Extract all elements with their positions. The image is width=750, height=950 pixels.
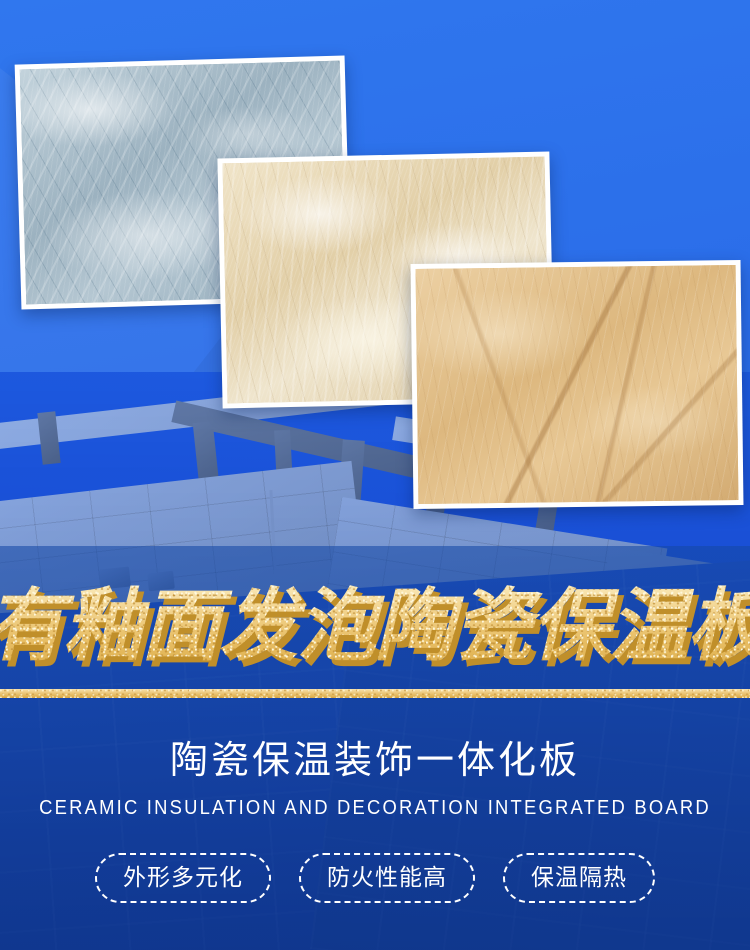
- feature-badge-shape[interactable]: 外形多元化: [95, 853, 271, 903]
- subtitle-block: 陶瓷保温装饰一体化板 CERAMIC INSULATION AND DECORA…: [0, 735, 750, 820]
- product-banner: 有釉面发泡陶瓷保温板 有釉面发泡陶瓷保温板 陶瓷保温装饰一体化板 CERAMIC…: [0, 0, 750, 950]
- headline-row: 有釉面发泡陶瓷保温板 有釉面发泡陶瓷保温板: [0, 578, 750, 674]
- gold-divider: [0, 689, 750, 698]
- feature-badge-row: 外形多元化 防火性能高 保温隔热: [0, 853, 750, 903]
- subtitle-chinese: 陶瓷保温装饰一体化板: [0, 735, 750, 785]
- headline-title: 有釉面发泡陶瓷保温板: [0, 578, 750, 674]
- feature-badge-fireproof[interactable]: 防火性能高: [299, 853, 475, 903]
- subtitle-english: CERAMIC INSULATION AND DECORATION INTEGR…: [30, 796, 720, 820]
- tan-veined-marble-tile: [416, 265, 739, 504]
- sample-tile-3: [411, 260, 744, 509]
- headline-stack: 有釉面发泡陶瓷保温板 有釉面发泡陶瓷保温板: [0, 578, 750, 674]
- feature-badge-insulation[interactable]: 保温隔热: [503, 853, 655, 903]
